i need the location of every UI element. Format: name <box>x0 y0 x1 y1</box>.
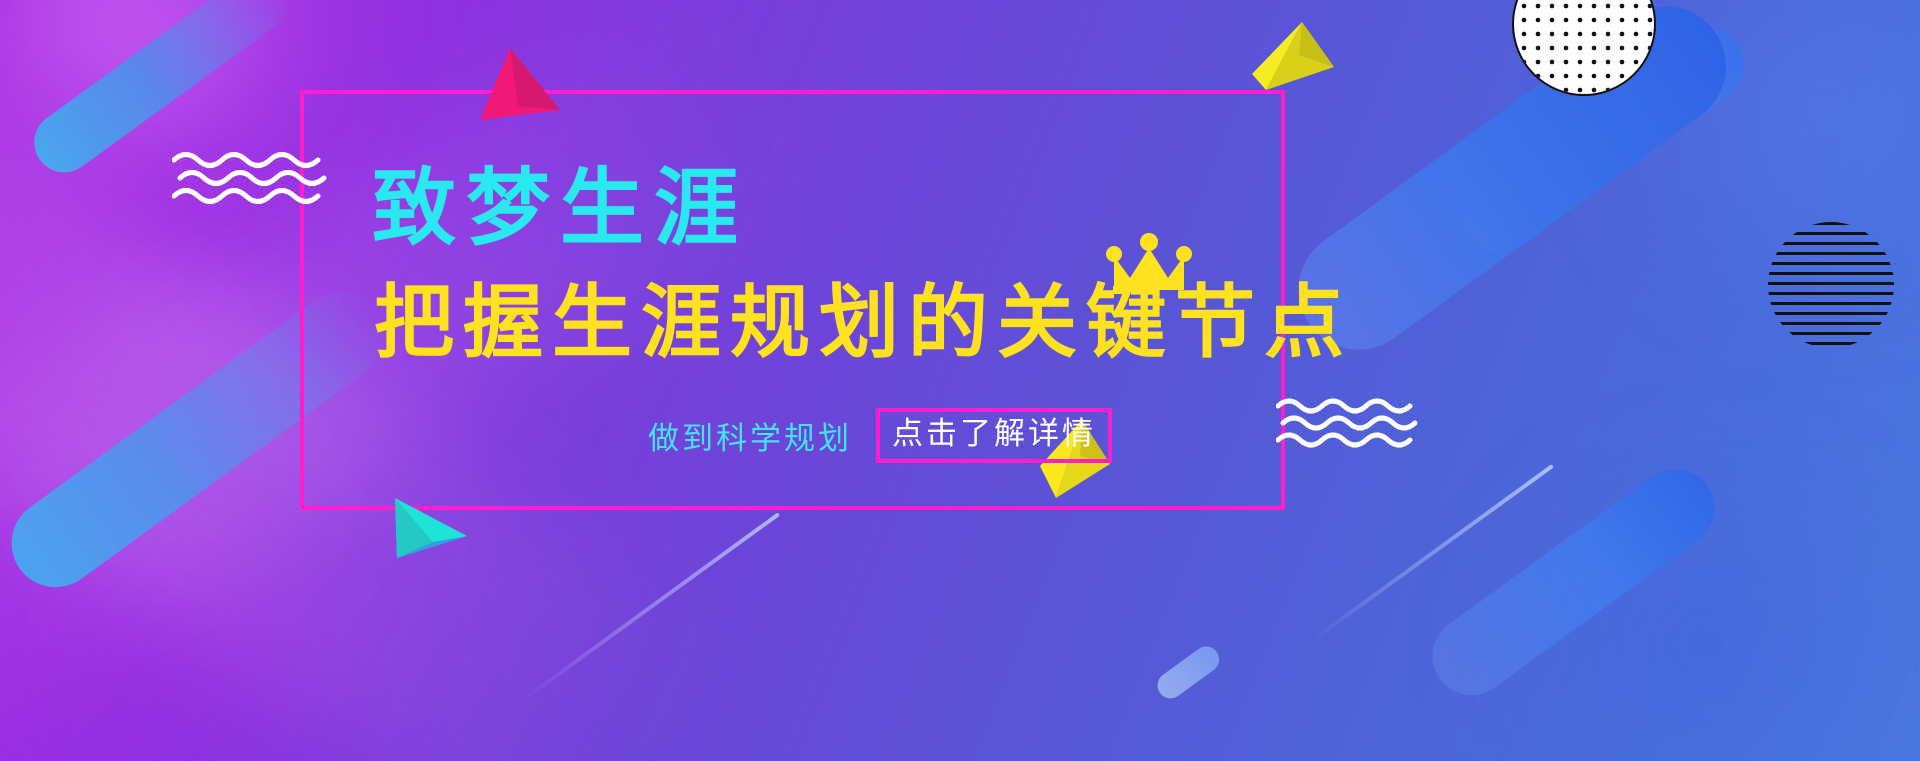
capsule-bar-right-lower <box>1417 453 1730 710</box>
yellow-pyramid-top-icon <box>1252 22 1334 92</box>
magenta-triangle-icon <box>480 48 560 120</box>
subtitle: 做到科学规划 <box>648 413 852 458</box>
cta-button[interactable]: 点击了解详情 <box>876 408 1112 463</box>
striped-circle-icon <box>1768 222 1894 348</box>
headline: 把握生涯规划的关键节点 <box>374 283 1353 363</box>
subtitle-cta-row: 做到科学规划 点击了解详情 <box>648 408 1112 463</box>
teal-triangle-icon <box>395 498 467 558</box>
promo-banner: 致梦生涯 把握生涯规划的关键节点 做到科学规划 点击了解详情 <box>0 0 1920 761</box>
capsule-bar-small <box>1152 641 1224 703</box>
wave-lines-right-icon <box>1276 395 1426 450</box>
wave-lines-left-icon <box>172 148 332 208</box>
dotted-circle-icon <box>1512 0 1656 96</box>
dotted-circle-pattern <box>1514 0 1654 94</box>
brand-title: 致梦生涯 <box>372 166 748 250</box>
